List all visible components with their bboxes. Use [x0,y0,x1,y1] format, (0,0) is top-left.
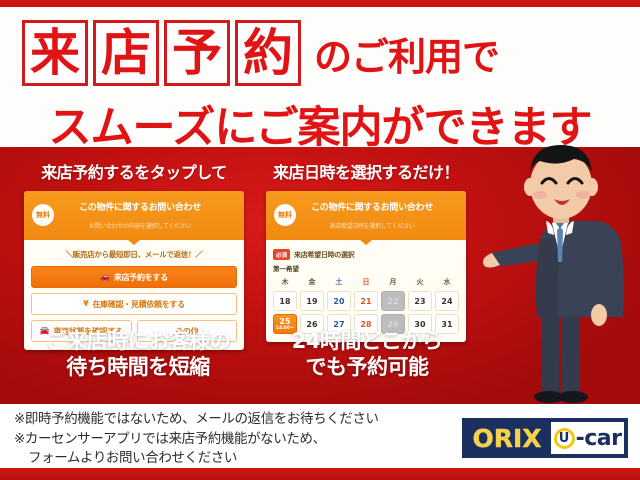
calendar-day-cell[interactable]: 20 [327,291,351,311]
salesman-illustration [480,135,640,410]
calendar-day-number: 21 [360,297,371,306]
car-icon: 🚗 [100,273,110,281]
headline-kanji-box: 店 [93,20,159,86]
calendar-day-number: 30 [414,320,425,329]
calendar-day-cell[interactable]: 18 [273,291,297,311]
calendar-day-grid: 181920212223242514:00〜262728293031 [273,291,459,334]
right-feature-panel: 来店日時を選択するだけ！ 無料 この物件に関するお問い合わせ 来店希望日時を選択… [266,159,466,342]
calendar-day-cell[interactable]: 23 [408,291,432,311]
footer-note-1: ※即時予約機能ではないため、メールの返信をお待ちください [14,411,379,427]
ucar-u-mark: U [554,428,575,449]
headline-kanji-box: 来 [22,20,88,86]
calendar-day-number: 24 [441,297,452,306]
visit-reservation-banner: 来 店 予 約 のご利用で スムーズにご案内ができます 来店予約するをタップして… [0,0,640,480]
inquiry-card-subtitle: お問い合わせの内容を選択してください [89,223,191,230]
feature-stage: 来店予約するをタップして 無料 この物件に関するお問い合わせ お問い合わせの内容… [0,147,640,404]
calendar-weekday: 土 [327,277,351,288]
calendar-card-title: この物件に関するお問い合わせ [311,203,433,213]
benefit-caption-2: 24時間どこから でも予約可能 [262,329,472,380]
orix-wordmark: ORIX [463,419,551,457]
calendar-day-cell[interactable]: 24 [435,291,459,311]
benefit-caption-1: ご来店時にお客様の 待ち時間を短縮 [14,329,262,380]
calendar-card-body: 必須 来店希望日時の選択 第一希望 木金土日月火水 18192021222324… [266,240,466,342]
calendar-day-number: 25 [279,317,290,326]
calendar-day-number: 29 [387,320,398,329]
ucar-car-text: -car [576,426,622,451]
calendar-weekday: 金 [300,277,324,288]
inquiry-card: 無料 この物件に関するお問い合わせ お問い合わせの内容を選択してください ＼販売… [24,191,244,350]
free-badge: 無料 [274,204,296,226]
calendar-day-number: 22 [387,297,398,306]
headline-section: 来 店 予 約 のご利用で スムーズにご案内ができます [0,7,640,147]
calendar-day-cell[interactable]: 21 [354,291,378,311]
yen-icon: ¥ [83,300,88,308]
free-badge: 無料 [32,204,54,226]
calendar-day-cell[interactable]: 19 [300,291,324,311]
calendar-day-number: 26 [306,320,317,329]
calendar-day-number: 31 [441,320,452,329]
card-notch [360,240,372,245]
ucar-wordmark: U -car [551,422,624,454]
calendar-day-number: 20 [333,297,344,306]
calendar-day-number: 23 [414,297,425,306]
benefit-2-line-1: 24時間どこから [292,329,443,353]
reserve-visit-button-label: 来店予約をする [114,272,168,283]
calendar-weekday: 月 [381,277,405,288]
preference-label: 第一希望 [273,263,459,273]
bottom-accent-bar [0,468,640,480]
calendar-weekday: 水 [435,277,459,288]
required-badge: 必須 [273,249,290,260]
orix-ucar-logo: ORIX U -car [462,418,628,458]
reply-promise-text: ＼販売店から最短即日、メールで返信！／ [31,249,237,260]
benefit-1-line-2: 待ち時間を短縮 [66,355,210,379]
stock-estimate-button[interactable]: ¥ 在庫確認・見積依頼をする [31,293,237,315]
left-panel-title: 来店予約するをタップして [24,159,244,183]
footer-note-2: ※カーセンサーアプリでは来店予約機能がないため、 [14,431,326,447]
card-notch [128,240,140,245]
calendar-weekday: 木 [273,277,297,288]
calendar-card-subtitle: 来店希望日時を選択してください [329,223,414,230]
calendar-weekday: 日 [354,277,378,288]
calendar-weekday-row: 木金土日月火水 [273,277,459,288]
stock-estimate-button-label: 在庫確認・見積依頼をする [92,299,184,310]
reserve-visit-button[interactable]: 🚗 来店予約をする [31,266,237,288]
calendar-day-number: 28 [360,320,371,329]
headline-kanji-box: 約 [235,20,301,86]
right-panel-title: 来店日時を選択するだけ！ [266,159,466,183]
top-accent-bar [0,0,640,7]
calendar-day-number: 18 [279,297,290,306]
inquiry-card-header: 無料 この物件に関するお問い合わせ お問い合わせの内容を選択してください [24,191,244,240]
calendar-weekday: 火 [408,277,432,288]
benefit-1-line-1: ご来店時にお客様の [46,329,231,353]
headline-kanji-box: 予 [164,20,230,86]
calendar-card-header: 無料 この物件に関するお問い合わせ 来店希望日時を選択してください [266,191,466,240]
inquiry-card-title: この物件に関するお問い合わせ [79,203,201,213]
headline-line-1: 来 店 予 約 のご利用で [0,17,640,89]
calendar-day-number: 27 [333,320,344,329]
calendar-field-label: 来店希望日時の選択 [294,250,354,260]
calendar-day-number: 19 [306,297,317,306]
headline-tail-text: のご利用で [314,26,499,81]
left-feature-panel: 来店予約するをタップして 無料 この物件に関するお問い合わせ お問い合わせの内容… [24,159,244,350]
calendar-card: 無料 この物件に関するお問い合わせ 来店希望日時を選択してください 必須 来店希… [266,191,466,342]
calendar-day-cell: 22 [381,291,405,311]
benefit-2-line-2: でも予約可能 [306,355,429,379]
